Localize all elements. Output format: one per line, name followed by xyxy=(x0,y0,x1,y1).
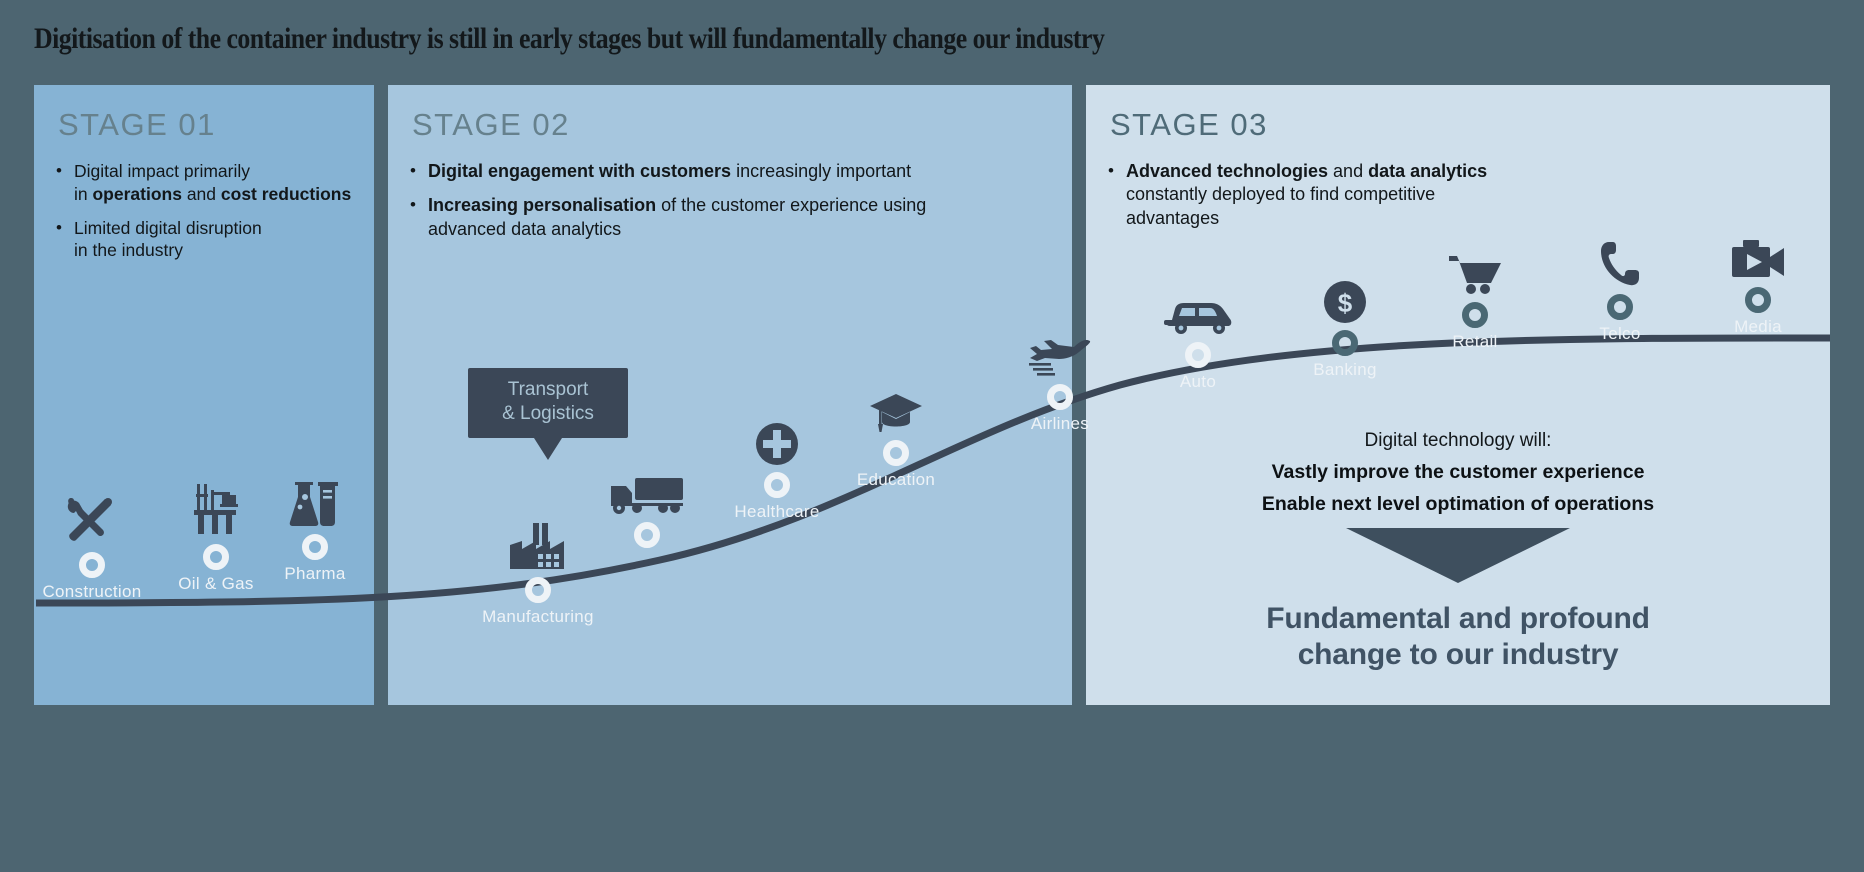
car-icon xyxy=(1123,280,1273,336)
callout-tail xyxy=(534,438,562,460)
industry-label: Media xyxy=(1683,317,1833,337)
bullet-dot: • xyxy=(410,160,428,183)
industry-node-auto[interactable]: Auto xyxy=(1123,280,1273,392)
conclusion-point-1: Vastly improve the customer experience xyxy=(1086,461,1830,484)
industry-node-transport-logistics[interactable] xyxy=(572,460,722,572)
conclusion-block: Digital technology will: Vastly improve … xyxy=(1086,430,1830,673)
stage-label-01: STAGE 01 xyxy=(58,107,216,143)
graduation-cap-icon xyxy=(821,378,971,434)
conclusion-intro: Digital technology will: xyxy=(1086,430,1830,452)
industry-label: Telco xyxy=(1545,324,1695,344)
node-ring xyxy=(203,544,229,570)
node-ring xyxy=(79,552,105,578)
video-camera-icon xyxy=(1683,225,1833,281)
bullet-text: Advanced technologies and data analytics… xyxy=(1126,160,1814,230)
node-ring xyxy=(1462,302,1488,328)
industry-label: Airlines xyxy=(985,414,1135,434)
bullet-item: • Advanced technologies and data analyti… xyxy=(1108,160,1814,230)
bullet-item: • Limited digital disruptionin the indus… xyxy=(56,217,358,263)
stage-bullets-01: • Digital impact primarilyin operations … xyxy=(56,160,358,273)
airplane-icon xyxy=(985,322,1135,378)
bullet-text: Digital impact primarilyin operations an… xyxy=(74,160,358,206)
flask-icon xyxy=(240,472,390,528)
phone-icon xyxy=(1545,232,1695,288)
page-title: Digitisation of the container industry i… xyxy=(34,22,1104,56)
node-ring xyxy=(1332,330,1358,356)
industry-label: Banking xyxy=(1270,360,1420,380)
bullet-text: Increasing personalisation of the custom… xyxy=(428,194,1056,241)
shopping-cart-icon xyxy=(1400,240,1550,296)
bullet-dot: • xyxy=(56,160,74,206)
industry-label: Manufacturing xyxy=(463,607,613,627)
node-ring xyxy=(764,472,790,498)
stage-panel-03: STAGE 03 • Advanced technologies and dat… xyxy=(1086,85,1830,705)
truck-icon xyxy=(572,460,722,516)
bullet-dot: • xyxy=(56,217,74,263)
node-ring xyxy=(1185,342,1211,368)
industry-node-media[interactable]: Media xyxy=(1683,225,1833,337)
node-ring xyxy=(883,440,909,466)
bullet-item: • Digital impact primarilyin operations … xyxy=(56,160,358,206)
node-ring xyxy=(1047,384,1073,410)
industry-node-banking[interactable]: $ Banking xyxy=(1270,268,1420,380)
industry-node-education[interactable]: Education xyxy=(821,378,971,490)
industry-label: Pharma xyxy=(240,564,390,584)
node-ring xyxy=(634,522,660,548)
node-ring xyxy=(302,534,328,560)
industry-node-pharma[interactable]: Pharma xyxy=(240,472,390,584)
industry-node-airlines[interactable]: Airlines xyxy=(985,322,1135,434)
infographic-page: Digitisation of the container industry i… xyxy=(0,0,1864,872)
dollar-coin-icon: $ xyxy=(1270,268,1420,324)
callout-text: Transport& Logistics xyxy=(502,379,594,424)
conclusion-point-2: Enable next level optimation of operatio… xyxy=(1086,493,1830,516)
bullet-text: Digital engagement with customers increa… xyxy=(428,160,1056,183)
stage-bullets-02: • Digital engagement with customers incr… xyxy=(410,160,1056,252)
down-arrow-icon xyxy=(1346,528,1570,583)
industry-node-retail[interactable]: Retail xyxy=(1400,240,1550,352)
stage-panel-01: STAGE 01 • Digital impact primarilyin op… xyxy=(34,85,374,705)
bullet-item: • Digital engagement with customers incr… xyxy=(410,160,1056,183)
stage-label-03: STAGE 03 xyxy=(1110,107,1268,143)
node-ring xyxy=(1745,287,1771,313)
industry-node-telco[interactable]: Telco xyxy=(1545,232,1695,344)
bullet-dot: • xyxy=(1108,160,1126,230)
bullet-dot: • xyxy=(410,194,428,241)
svg-text:$: $ xyxy=(1338,288,1353,318)
industry-label xyxy=(572,552,722,572)
industry-label: Education xyxy=(821,470,971,490)
industry-label: Healthcare xyxy=(702,502,852,522)
stage-label-02: STAGE 02 xyxy=(412,107,570,143)
industry-label: Retail xyxy=(1400,332,1550,352)
node-ring xyxy=(1607,294,1633,320)
conclusion-final: Fundamental and profoundchange to our in… xyxy=(1086,601,1830,673)
industry-label: Auto xyxy=(1123,372,1273,392)
bullet-item: • Increasing personalisation of the cust… xyxy=(410,194,1056,241)
node-ring xyxy=(525,577,551,603)
transport-logistics-callout: Transport& Logistics xyxy=(468,368,628,438)
bullet-text: Limited digital disruptionin the industr… xyxy=(74,217,358,263)
